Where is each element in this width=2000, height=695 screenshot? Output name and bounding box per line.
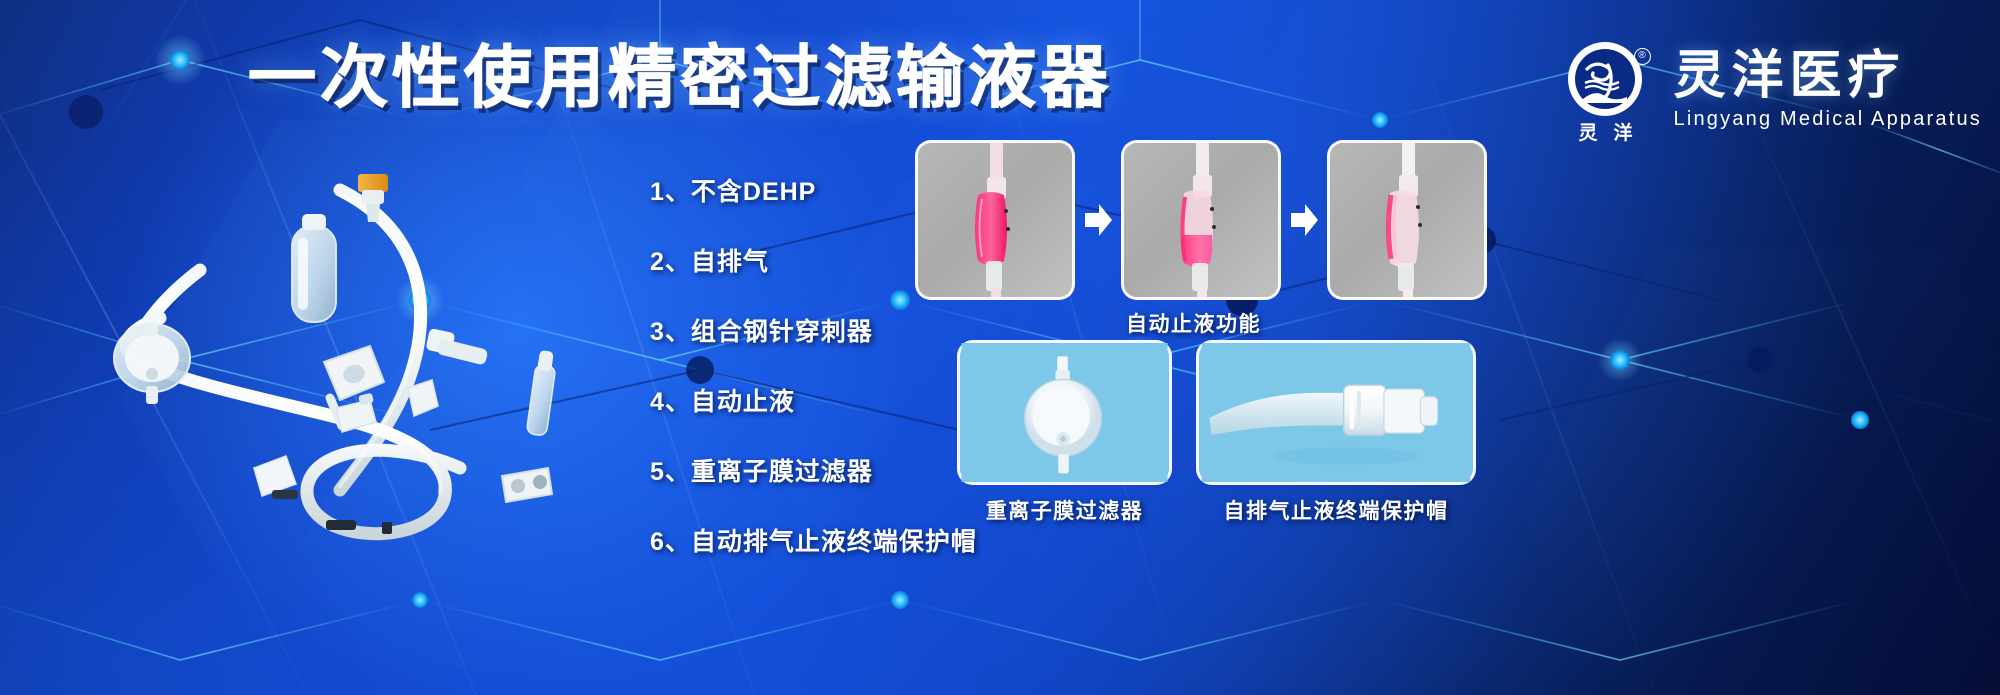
membrane-filter-disc: [114, 322, 190, 404]
drip-chamber: [292, 214, 336, 322]
lingyang-emblem-icon: ® 灵洋: [1560, 40, 1652, 140]
slide-clamp: [502, 468, 552, 502]
product-banner: 一次性使用精密过滤输液器 ® 灵洋 灵洋医疗 Lingyang Medical …: [0, 0, 2000, 695]
component-photo-row: [957, 340, 1476, 485]
terminal-protective-cap: [526, 350, 556, 436]
heavy-ion-membrane-filter-caption: 重离子膜过滤器: [957, 495, 1172, 525]
wing-connector: [254, 456, 298, 499]
registered-trademark-icon: ®: [1634, 48, 1651, 65]
brand-logo: ® 灵洋 灵洋医疗 Lingyang Medical Apparatus: [1560, 40, 1982, 140]
sequence-arrow-1-icon: [1075, 140, 1121, 300]
logo-wave-bird-glyph: [1575, 49, 1635, 109]
self-venting-end-cap-caption: 自排气止液终端保护帽: [1196, 495, 1476, 525]
sequence-arrow-2-icon: [1281, 140, 1327, 300]
brand-name-cn: 灵洋医疗: [1674, 49, 1982, 104]
banner-title-wrapper: 一次性使用精密过滤输液器: [248, 44, 1112, 112]
heavy-ion-membrane-filter-photo: [957, 340, 1172, 485]
brand-name-en: Lingyang Medical Apparatus: [1674, 108, 1982, 131]
auto-stop-step-1-photo: [915, 140, 1075, 300]
auto-stop-caption: 自动止液功能: [915, 308, 1472, 338]
demo-panels: 自动止液功能: [915, 140, 1980, 660]
auto-stop-step-3-photo: [1327, 140, 1487, 300]
brand-wordmark: 灵洋医疗 Lingyang Medical Apparatus: [1674, 49, 1982, 131]
auto-stop-sequence: [915, 140, 1487, 300]
infusion-set-illustration: [40, 150, 660, 550]
self-venting-end-cap-photo: [1196, 340, 1476, 485]
page-title: 一次性使用精密过滤输液器: [248, 44, 1112, 112]
product-photo: [40, 150, 660, 550]
component-caption-row: 重离子膜过滤器 自排气止液终端保护帽: [957, 495, 1476, 525]
auto-stop-step-2-photo: [1121, 140, 1281, 300]
